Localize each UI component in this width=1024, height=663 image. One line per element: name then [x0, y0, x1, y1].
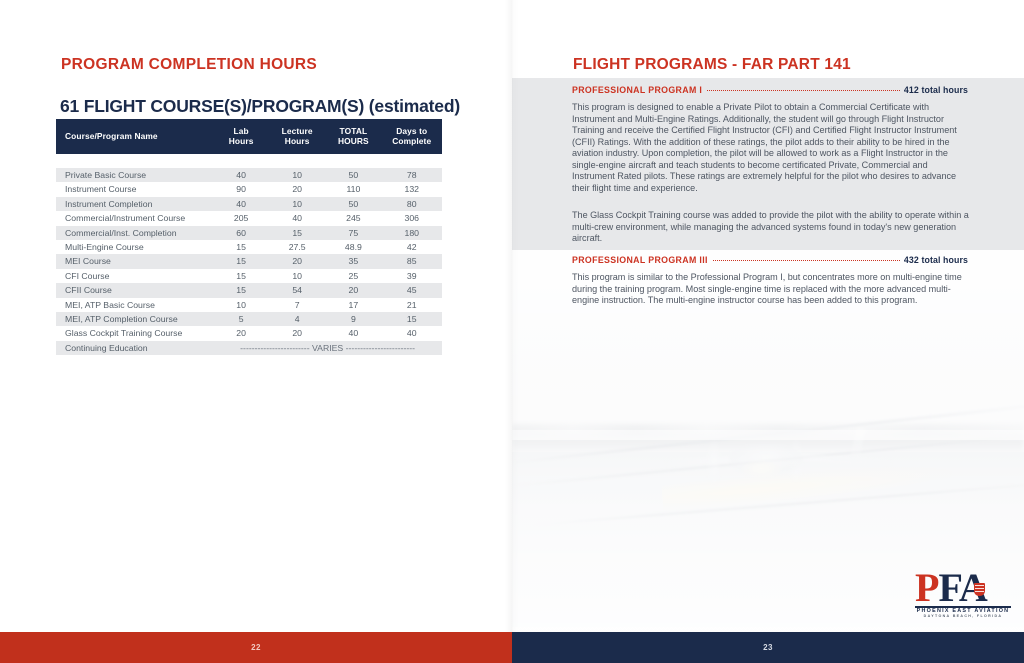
- cell-lecture-hours: 10: [269, 269, 325, 283]
- table-row: MEI, ATP Completion Course 5 4 9 15: [56, 312, 442, 326]
- cell-total-hours: 48.9: [325, 240, 381, 254]
- cell-lecture-hours: 20: [269, 254, 325, 268]
- cell-days-to-complete: 78: [381, 168, 442, 182]
- column-header-total-line1: TOTAL: [340, 126, 368, 136]
- cell-days-to-complete: 45: [381, 283, 442, 297]
- cell-course-name: Continuing Education: [56, 341, 213, 355]
- cell-lab-hours: 10: [213, 298, 269, 312]
- table-header-row: Course/Program Name Lab Hours Lecture Ho…: [56, 119, 442, 154]
- cell-course-name: MEI Course: [56, 254, 213, 268]
- column-header-days-to-complete: Days to Complete: [381, 119, 442, 154]
- program-name: PROFESSIONAL PROGRAM I: [572, 85, 702, 95]
- cell-lab-hours: 40: [213, 168, 269, 182]
- cell-lecture-hours: 15: [269, 226, 325, 240]
- cell-course-name: CFI Course: [56, 269, 213, 283]
- cell-lab-hours: 5: [213, 312, 269, 326]
- left-page: PROGRAM COMPLETION HOURS 61 FLIGHT COURS…: [0, 0, 512, 632]
- cell-days-to-complete: 180: [381, 226, 442, 240]
- cell-total-hours: 9: [325, 312, 381, 326]
- pfa-shield-icon: [974, 583, 985, 596]
- cell-lecture-hours: 27.5: [269, 240, 325, 254]
- cell-lecture-hours: 20: [269, 326, 325, 340]
- cell-total-hours: 25: [325, 269, 381, 283]
- pfa-letter-p: P: [915, 565, 938, 610]
- table-row: CFII Course 15 54 20 45: [56, 283, 442, 297]
- leader-dots: [707, 89, 900, 91]
- cell-total-hours: 75: [325, 226, 381, 240]
- cell-days-to-complete: 42: [381, 240, 442, 254]
- cell-total-hours: 245: [325, 211, 381, 225]
- cell-lab-hours: 15: [213, 254, 269, 268]
- cell-days-to-complete: 306: [381, 211, 442, 225]
- magazine-spread: PROGRAM COMPLETION HOURS 61 FLIGHT COURS…: [0, 0, 1024, 663]
- pfa-logo-location: DAYTONA BEACH, FLORIDA: [915, 614, 1011, 618]
- program-total-hours: 412 total hours: [904, 85, 968, 95]
- column-header-days-line2: Complete: [392, 136, 431, 146]
- cell-lab-hours: 90: [213, 182, 269, 196]
- cell-total-hours: 50: [325, 168, 381, 182]
- table-row: Instrument Completion 40 10 50 80: [56, 197, 442, 211]
- spread-footer: 22 23: [0, 632, 1024, 663]
- program-i-paragraph-1: This program is designed to enable a Pri…: [572, 102, 970, 194]
- cell-total-hours: 40: [325, 326, 381, 340]
- column-header-total-line2: HOURS: [338, 136, 369, 146]
- pfa-logo-letters: PFA: [915, 569, 1011, 607]
- cell-course-name: Commercial/Inst. Completion: [56, 226, 213, 240]
- column-header-days-line1: Days to: [396, 126, 427, 136]
- cell-lecture-hours: 54: [269, 283, 325, 297]
- pfa-letter-f: F: [938, 565, 958, 610]
- table-header: Course/Program Name Lab Hours Lecture Ho…: [56, 119, 442, 154]
- cell-lecture-hours: 4: [269, 312, 325, 326]
- cell-lecture-hours: 7: [269, 298, 325, 312]
- cell-days-to-complete: 40: [381, 326, 442, 340]
- leader-dots: [713, 259, 900, 261]
- column-header-lab-hours: Lab Hours: [213, 119, 269, 154]
- cell-days-to-complete: 85: [381, 254, 442, 268]
- table-row: MEI, ATP Basic Course 10 7 17 21: [56, 298, 442, 312]
- cell-days-to-complete: 39: [381, 269, 442, 283]
- cell-lab-hours: 205: [213, 211, 269, 225]
- cell-course-name: Instrument Course: [56, 182, 213, 196]
- column-header-lecture-line1: Lecture: [282, 126, 313, 136]
- cell-lecture-hours: 10: [269, 168, 325, 182]
- cell-total-hours: 35: [325, 254, 381, 268]
- cell-lecture-hours: 40: [269, 211, 325, 225]
- column-header-course: Course/Program Name: [56, 119, 213, 154]
- cell-course-name: Commercial/Instrument Course: [56, 211, 213, 225]
- column-header-lab-line1: Lab: [234, 126, 249, 136]
- footer-right-bar: 23: [512, 632, 1024, 663]
- page-number-left: 22: [0, 643, 512, 652]
- cell-course-name: MEI, ATP Completion Course: [56, 312, 213, 326]
- cell-days-to-complete: 21: [381, 298, 442, 312]
- cell-varies: ------------------------ VARIES --------…: [213, 341, 442, 355]
- table-spacer-row: [56, 154, 442, 168]
- program-hours-table: Course/Program Name Lab Hours Lecture Ho…: [56, 119, 442, 355]
- program-heading-professional-program-iii: PROFESSIONAL PROGRAM III 432 total hours: [572, 255, 968, 265]
- cell-lecture-hours: 20: [269, 182, 325, 196]
- cell-days-to-complete: 15: [381, 312, 442, 326]
- cell-lab-hours: 15: [213, 283, 269, 297]
- table-row: Commercial/Instrument Course 205 40 245 …: [56, 211, 442, 225]
- column-header-lecture-line2: Hours: [285, 136, 310, 146]
- program-heading-professional-program-i: PROFESSIONAL PROGRAM I 412 total hours: [572, 85, 968, 95]
- column-header-lecture-hours: Lecture Hours: [269, 119, 325, 154]
- cell-total-hours: 20: [325, 283, 381, 297]
- column-header-lab-line2: Hours: [229, 136, 254, 146]
- program-name: PROFESSIONAL PROGRAM III: [572, 255, 708, 265]
- table-row-continuing-education: Continuing Education -------------------…: [56, 341, 442, 355]
- cell-course-name: Multi-Engine Course: [56, 240, 213, 254]
- right-page: FLIGHT PROGRAMS - FAR PART 141 PROFESSIO…: [512, 0, 1024, 632]
- cell-days-to-complete: 80: [381, 197, 442, 211]
- cell-lab-hours: 15: [213, 269, 269, 283]
- table-row: MEI Course 15 20 35 85: [56, 254, 442, 268]
- right-page-title: FLIGHT PROGRAMS - FAR PART 141: [573, 56, 851, 74]
- cell-course-name: Instrument Completion: [56, 197, 213, 211]
- table-title: 61 FLIGHT COURSE(S)/PROGRAM(S) (estimate…: [60, 96, 460, 117]
- pfa-logo: PFA PHOENIX EAST AVIATION DAYTONA BEACH,…: [915, 569, 1011, 619]
- table-row: Glass Cockpit Training Course 20 20 40 4…: [56, 326, 442, 340]
- table-row: Instrument Course 90 20 110 132: [56, 182, 442, 196]
- column-header-total-hours: TOTAL HOURS: [325, 119, 381, 154]
- cell-total-hours: 50: [325, 197, 381, 211]
- cell-course-name: Private Basic Course: [56, 168, 213, 182]
- program-total-hours: 432 total hours: [904, 255, 968, 265]
- program-iii-paragraph-1: This program is similar to the Professio…: [572, 272, 970, 307]
- page-number-right: 23: [512, 643, 1024, 652]
- cell-lab-hours: 15: [213, 240, 269, 254]
- cell-total-hours: 110: [325, 182, 381, 196]
- cell-lab-hours: 20: [213, 326, 269, 340]
- cell-total-hours: 17: [325, 298, 381, 312]
- page-title: PROGRAM COMPLETION HOURS: [61, 56, 317, 74]
- column-header-course-line1: Course/Program Name: [65, 131, 158, 141]
- cell-lab-hours: 40: [213, 197, 269, 211]
- program-i-paragraph-2: The Glass Cockpit Training course was ad…: [572, 210, 970, 245]
- cell-days-to-complete: 132: [381, 182, 442, 196]
- cell-lecture-hours: 10: [269, 197, 325, 211]
- cell-course-name: Glass Cockpit Training Course: [56, 326, 213, 340]
- table-row: Commercial/Inst. Completion 60 15 75 180: [56, 226, 442, 240]
- footer-left-bar: 22: [0, 632, 512, 663]
- table-body: Private Basic Course 40 10 50 78 Instrum…: [56, 154, 442, 356]
- table-row: Private Basic Course 40 10 50 78: [56, 168, 442, 182]
- table-row: CFI Course 15 10 25 39: [56, 269, 442, 283]
- cell-lab-hours: 60: [213, 226, 269, 240]
- cell-course-name: MEI, ATP Basic Course: [56, 298, 213, 312]
- table-row: Multi-Engine Course 15 27.5 48.9 42: [56, 240, 442, 254]
- cell-course-name: CFII Course: [56, 283, 213, 297]
